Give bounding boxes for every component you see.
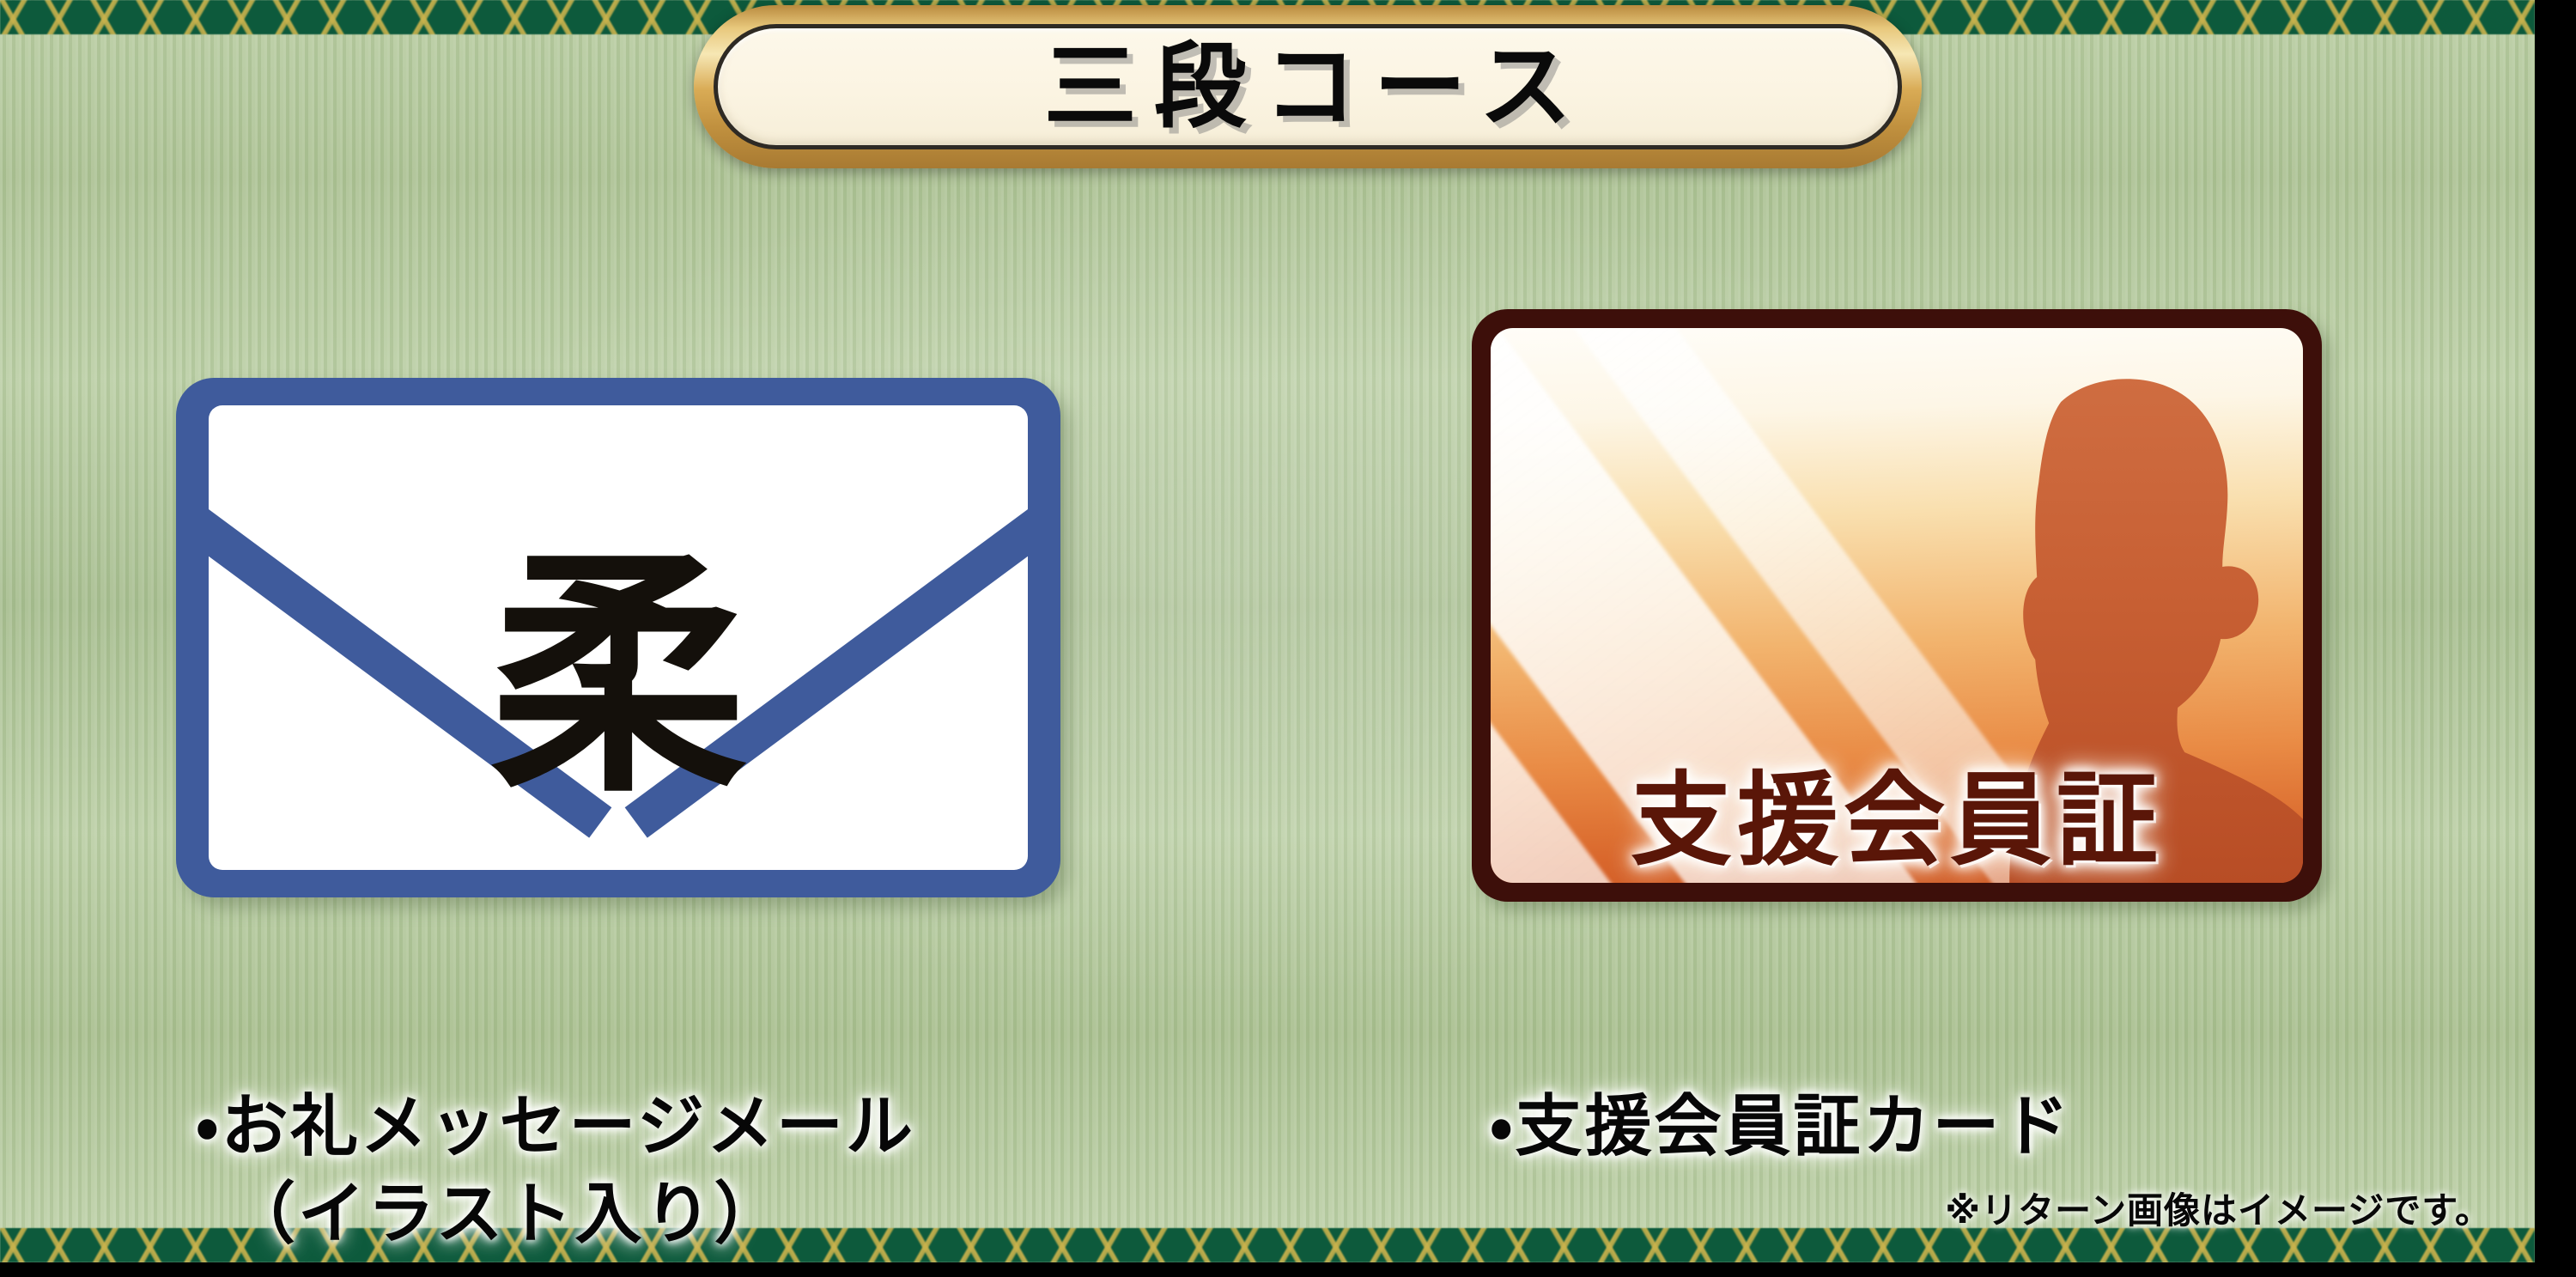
reward-caption-thank-you-mail: ・お礼メッセージメール （イラスト入り） (196, 996, 915, 1277)
thank-you-mail-art: 柔 (176, 378, 1060, 897)
title-banner-inner: 三段コース (714, 24, 1902, 149)
member-card-label: 支援会員証 (1491, 769, 2303, 871)
judo-kanji-icon: 柔 (209, 547, 1028, 805)
envelope-paper: 柔 (209, 405, 1028, 870)
bottom-letterbox-bar (0, 1262, 2576, 1277)
reward-caption-line2: （イラスト入り） (196, 1171, 915, 1257)
support-member-card-art: 支援会員証 (1472, 309, 2322, 902)
reward-caption-member-card: ・支援会員証カード (1490, 996, 2072, 1171)
right-letterbox-bar (2535, 0, 2576, 1277)
title-banner: 三段コース (694, 5, 1922, 168)
disclaimer-note: ※リターン画像はイメージです。 (1945, 1182, 2492, 1234)
page-title: 三段コース (1027, 40, 1589, 133)
member-card-face: 支援会員証 (1491, 328, 2303, 883)
reward-tier-slide: 三段コース 柔 (0, 0, 2576, 1277)
member-card-frame: 支援会員証 (1472, 309, 2322, 902)
envelope-icon: 柔 (176, 378, 1060, 897)
reward-caption-line1: ・お礼メッセージメール (196, 1087, 915, 1165)
reward-caption-line1: ・支援会員証カード (1490, 1087, 2072, 1165)
